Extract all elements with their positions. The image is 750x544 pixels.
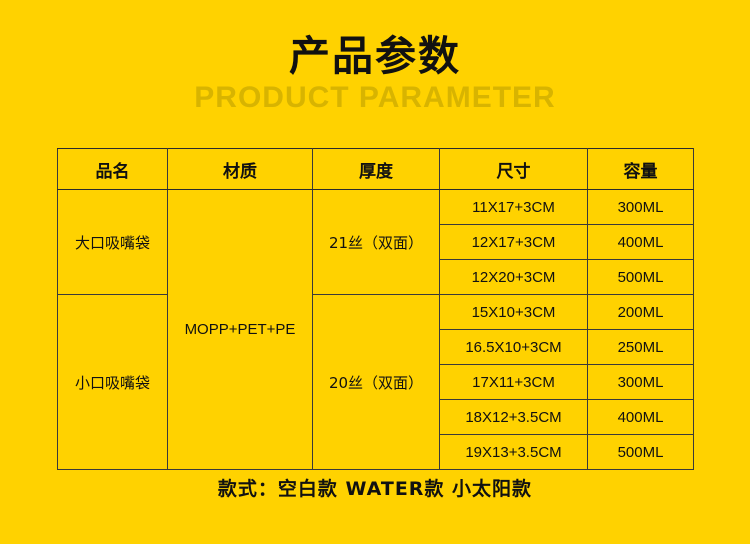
thickness-group-1: 21丝（双面） <box>313 190 440 295</box>
material-cell: MOPP+PET+PE <box>168 190 313 470</box>
size-cell: 16.5X10+3CM <box>440 330 588 365</box>
capacity-cell: 400ML <box>588 400 694 435</box>
page-title-cn: 产品参数 <box>0 34 750 79</box>
product-name-group-1: 大口吸嘴袋 <box>58 190 168 295</box>
column-header-name: 品名 <box>58 149 168 190</box>
size-cell: 11X17+3CM <box>440 190 588 225</box>
column-header-capacity: 容量 <box>588 149 694 190</box>
column-header-material: 材质 <box>168 149 313 190</box>
table-row: 小口吸嘴袋 20丝（双面） 15X10+3CM 200ML <box>58 295 694 330</box>
table-row: 大口吸嘴袋 MOPP+PET+PE 21丝（双面） 11X17+3CM 300M… <box>58 190 694 225</box>
product-name-group-2: 小口吸嘴袋 <box>58 295 168 470</box>
style-note: 款式：空白款 WATER款 小太阳款 <box>0 474 750 501</box>
capacity-cell: 400ML <box>588 225 694 260</box>
page-title-en: PRODUCT PARAMETER <box>0 81 750 116</box>
size-cell: 12X20+3CM <box>440 260 588 295</box>
column-header-size: 尺寸 <box>440 149 588 190</box>
capacity-cell: 300ML <box>588 190 694 225</box>
size-cell: 19X13+3.5CM <box>440 435 588 470</box>
column-header-thickness: 厚度 <box>313 149 440 190</box>
capacity-cell: 500ML <box>588 260 694 295</box>
size-cell: 15X10+3CM <box>440 295 588 330</box>
spec-table-wrapper: 品名 材质 厚度 尺寸 容量 大口吸嘴袋 MOPP+PET+PE 21丝（双面）… <box>57 148 693 470</box>
capacity-cell: 200ML <box>588 295 694 330</box>
spec-table: 品名 材质 厚度 尺寸 容量 大口吸嘴袋 MOPP+PET+PE 21丝（双面）… <box>57 148 694 470</box>
capacity-cell: 250ML <box>588 330 694 365</box>
title-block: 产品参数 PRODUCT PARAMETER <box>0 0 750 116</box>
capacity-cell: 300ML <box>588 365 694 400</box>
capacity-cell: 500ML <box>588 435 694 470</box>
size-cell: 17X11+3CM <box>440 365 588 400</box>
thickness-group-2: 20丝（双面） <box>313 295 440 470</box>
size-cell: 18X12+3.5CM <box>440 400 588 435</box>
product-parameter-page: 产品参数 PRODUCT PARAMETER 品名 材质 厚度 尺寸 容量 <box>0 0 750 544</box>
size-cell: 12X17+3CM <box>440 225 588 260</box>
table-header-row: 品名 材质 厚度 尺寸 容量 <box>58 149 694 190</box>
